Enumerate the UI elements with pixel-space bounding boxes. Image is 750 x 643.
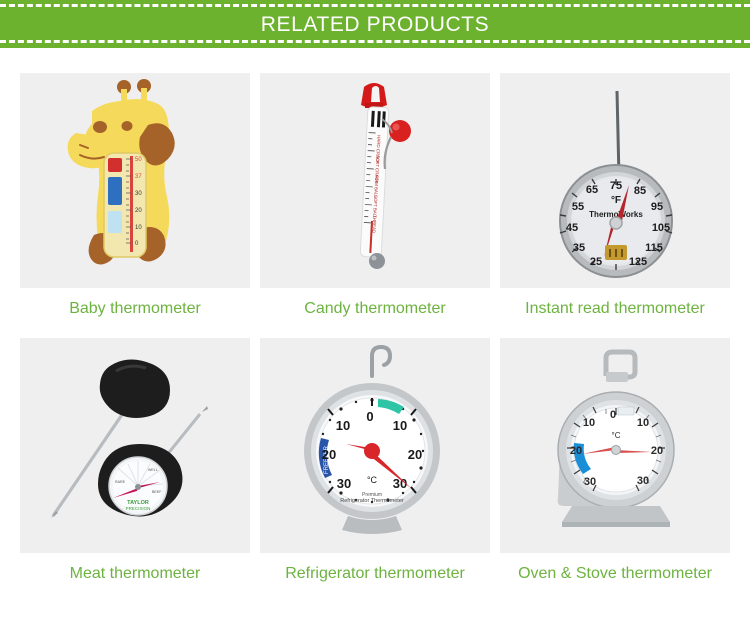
page-title: RELATED PRODUCTS — [261, 14, 490, 35]
product-image-meat-thermometer[interactable]: TAYLOR PRECISION RARE WELL BEEF — [20, 338, 250, 553]
refrigerator-thermometer-icon: FREEZER 0 10 20 30 10 20 30 °C — [260, 338, 490, 553]
svg-text:20: 20 — [135, 208, 142, 214]
svg-text:0: 0 — [366, 409, 373, 424]
svg-text:30: 30 — [337, 476, 351, 491]
svg-text:30: 30 — [584, 476, 596, 488]
product-card-baby-thermometer[interactable]: 50 37 30 20 10 0 Baby thermometer — [20, 73, 250, 318]
product-label-baby-thermometer: Baby thermometer — [20, 288, 250, 318]
svg-text:30: 30 — [637, 475, 649, 487]
product-grid: 50 37 30 20 10 0 Baby thermometer — [0, 48, 750, 582]
product-label-oven-stove-thermometer: Oven & Stove thermometer — [500, 553, 730, 583]
svg-text:10: 10 — [135, 225, 142, 231]
svg-text:30: 30 — [135, 191, 142, 197]
product-label-refrigerator-thermometer: Refrigerator thermometer — [260, 553, 490, 583]
product-row-1: 50 37 30 20 10 0 Baby thermometer — [20, 73, 730, 318]
svg-text:25: 25 — [590, 256, 602, 268]
svg-text:Refrigerator Thermometer: Refrigerator Thermometer — [340, 498, 404, 504]
giraffe-thermometer-icon: 50 37 30 20 10 0 — [20, 73, 250, 288]
svg-text:95: 95 — [651, 201, 663, 213]
svg-text:65: 65 — [586, 184, 598, 196]
dial-unit-label: °F — [611, 195, 621, 206]
product-label-meat-thermometer: Meat thermometer — [20, 553, 250, 583]
svg-text:10: 10 — [336, 418, 350, 433]
svg-text:20: 20 — [408, 447, 422, 462]
svg-text:115: 115 — [645, 242, 663, 254]
svg-text:85: 85 — [634, 185, 646, 197]
product-image-oven-stove-thermometer[interactable]: 0 10 20 30 10 20 30 °C — [500, 338, 730, 553]
svg-text:BEEF: BEEF — [152, 490, 162, 494]
svg-text:20: 20 — [651, 445, 663, 457]
product-image-baby-thermometer[interactable]: 50 37 30 20 10 0 — [20, 73, 250, 288]
product-row-2: TAYLOR PRECISION RARE WELL BEEF Meat the… — [20, 338, 730, 583]
product-card-candy-thermometer[interactable]: HARD CRACK SOFT CRACK FIRM BALL SOFT BAL… — [260, 73, 490, 318]
svg-text:55: 55 — [572, 201, 584, 213]
product-card-instant-read-thermometer[interactable]: 65 75 85 95 105 115 125 55 45 35 25 °F T… — [500, 73, 730, 318]
product-card-oven-stove-thermometer[interactable]: 0 10 20 30 10 20 30 °C — [500, 338, 730, 583]
product-image-candy-thermometer[interactable]: HARD CRACK SOFT CRACK FIRM BALL SOFT BAL… — [260, 73, 490, 288]
svg-text:0: 0 — [610, 409, 616, 421]
svg-text:75: 75 — [610, 180, 622, 192]
product-label-candy-thermometer: Candy thermometer — [260, 288, 490, 318]
svg-text:RARE: RARE — [115, 480, 126, 484]
oven-stove-thermometer-icon: 0 10 20 30 10 20 30 °C — [500, 338, 730, 553]
svg-text:125: 125 — [629, 256, 647, 268]
svg-text:10: 10 — [637, 417, 649, 429]
svg-text:105: 105 — [652, 222, 670, 234]
svg-text:37: 37 — [135, 174, 142, 180]
svg-text:PRECISION: PRECISION — [126, 506, 151, 511]
svg-text:WELL: WELL — [148, 468, 158, 472]
svg-text:35: 35 — [573, 242, 585, 254]
svg-text:45: 45 — [566, 222, 578, 234]
dial-unit-label: °C — [367, 475, 378, 485]
svg-text:50: 50 — [135, 157, 142, 163]
candy-thermometer-icon: HARD CRACK SOFT CRACK FIRM BALL SOFT BAL… — [260, 73, 490, 288]
product-card-refrigerator-thermometer[interactable]: FREEZER 0 10 20 30 10 20 30 °C — [260, 338, 490, 583]
meat-thermometer-icon: TAYLOR PRECISION RARE WELL BEEF — [20, 338, 250, 553]
banner-top-dashed-line — [0, 4, 750, 7]
product-image-instant-read-thermometer[interactable]: 65 75 85 95 105 115 125 55 45 35 25 °F T… — [500, 73, 730, 288]
product-image-refrigerator-thermometer[interactable]: FREEZER 0 10 20 30 10 20 30 °C — [260, 338, 490, 553]
dial-unit-label: °C — [612, 431, 621, 440]
svg-text:20: 20 — [570, 445, 582, 457]
instant-read-thermometer-icon: 65 75 85 95 105 115 125 55 45 35 25 °F T… — [500, 73, 730, 288]
svg-text:10: 10 — [393, 418, 407, 433]
banner-bottom-dashed-line — [0, 40, 750, 43]
related-products-banner: RELATED PRODUCTS — [0, 0, 750, 48]
product-card-meat-thermometer[interactable]: TAYLOR PRECISION RARE WELL BEEF Meat the… — [20, 338, 250, 583]
product-label-instant-read-thermometer: Instant read thermometer — [500, 288, 730, 318]
svg-text:10: 10 — [583, 417, 595, 429]
svg-text:20: 20 — [322, 447, 336, 462]
